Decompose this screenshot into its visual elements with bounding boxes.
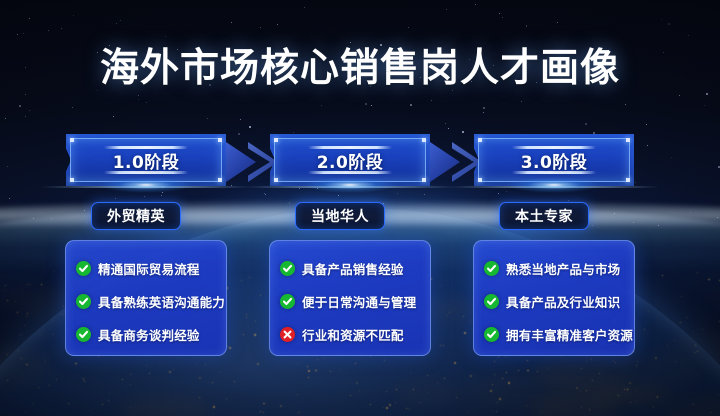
stage-banner-2[interactable]: 2.0阶段 xyxy=(270,134,430,186)
feature-card-1: 精通国际贸易流程具备熟练英语沟通能力具备商务谈判经验 xyxy=(65,240,227,356)
feature-item: 具备产品销售经验 xyxy=(280,254,430,282)
feature-item: 精通国际贸易流程 xyxy=(76,254,226,282)
check-circle-icon xyxy=(76,327,91,342)
stage-banner-label: 2.0阶段 xyxy=(270,134,430,186)
feature-label: 具备产品销售经验 xyxy=(302,259,404,278)
feature-card-2: 具备产品销售经验便于日常沟通与管理行业和资源不匹配 xyxy=(269,240,431,356)
stage-banner-3[interactable]: 3.0阶段 xyxy=(474,134,634,186)
feature-item: 便于日常沟通与管理 xyxy=(280,287,430,315)
persona-pill-1[interactable]: 外贸精英 xyxy=(91,202,181,230)
feature-item: 具备商务谈判经验 xyxy=(76,320,226,348)
feature-item: 行业和资源不匹配 xyxy=(280,320,430,348)
feature-label: 便于日常沟通与管理 xyxy=(302,292,416,311)
slide-canvas: 海外市场核心销售岗人才画像 1.0阶段 xyxy=(0,0,720,416)
check-circle-icon xyxy=(76,294,91,309)
persona-pill-3[interactable]: 本土专家 xyxy=(499,202,589,230)
feature-label: 精通国际贸易流程 xyxy=(98,259,200,278)
cross-circle-icon xyxy=(280,327,295,342)
stage-banner-row: 1.0阶段 2.0阶段 xyxy=(0,134,720,190)
feature-label: 具备熟练英语沟通能力 xyxy=(98,292,225,311)
feature-item: 熟悉当地产品与市场 xyxy=(484,254,634,282)
feature-item: 具备熟练英语沟通能力 xyxy=(76,287,226,315)
feature-label: 行业和资源不匹配 xyxy=(302,325,404,344)
check-circle-icon xyxy=(280,261,295,276)
stage-banner-label: 3.0阶段 xyxy=(474,134,634,186)
check-circle-icon xyxy=(280,294,295,309)
check-circle-icon xyxy=(484,294,499,309)
feature-label: 具备产品及行业知识 xyxy=(506,292,620,311)
page-title: 海外市场核心销售岗人才画像 xyxy=(0,44,720,94)
check-circle-icon xyxy=(76,261,91,276)
feature-label: 拥有丰富精准客户资源 xyxy=(506,325,633,344)
banner-flare-streak xyxy=(245,186,455,188)
feature-label: 具备商务谈判经验 xyxy=(98,325,200,344)
persona-pill-row: 外贸精英 当地华人 本土专家 xyxy=(0,202,720,230)
feature-item: 拥有丰富精准客户资源 xyxy=(484,320,634,348)
stage-banner-1[interactable]: 1.0阶段 xyxy=(66,134,226,186)
banner-flare-streak xyxy=(449,186,659,188)
check-circle-icon xyxy=(484,327,499,342)
feature-item: 具备产品及行业知识 xyxy=(484,287,634,315)
banner-flare-streak xyxy=(41,186,251,188)
stage-banner-label: 1.0阶段 xyxy=(66,134,226,186)
feature-label: 熟悉当地产品与市场 xyxy=(506,259,620,278)
persona-pill-2[interactable]: 当地华人 xyxy=(295,202,385,230)
check-circle-icon xyxy=(484,261,499,276)
feature-card-3: 熟悉当地产品与市场具备产品及行业知识拥有丰富精准客户资源 xyxy=(473,240,635,356)
